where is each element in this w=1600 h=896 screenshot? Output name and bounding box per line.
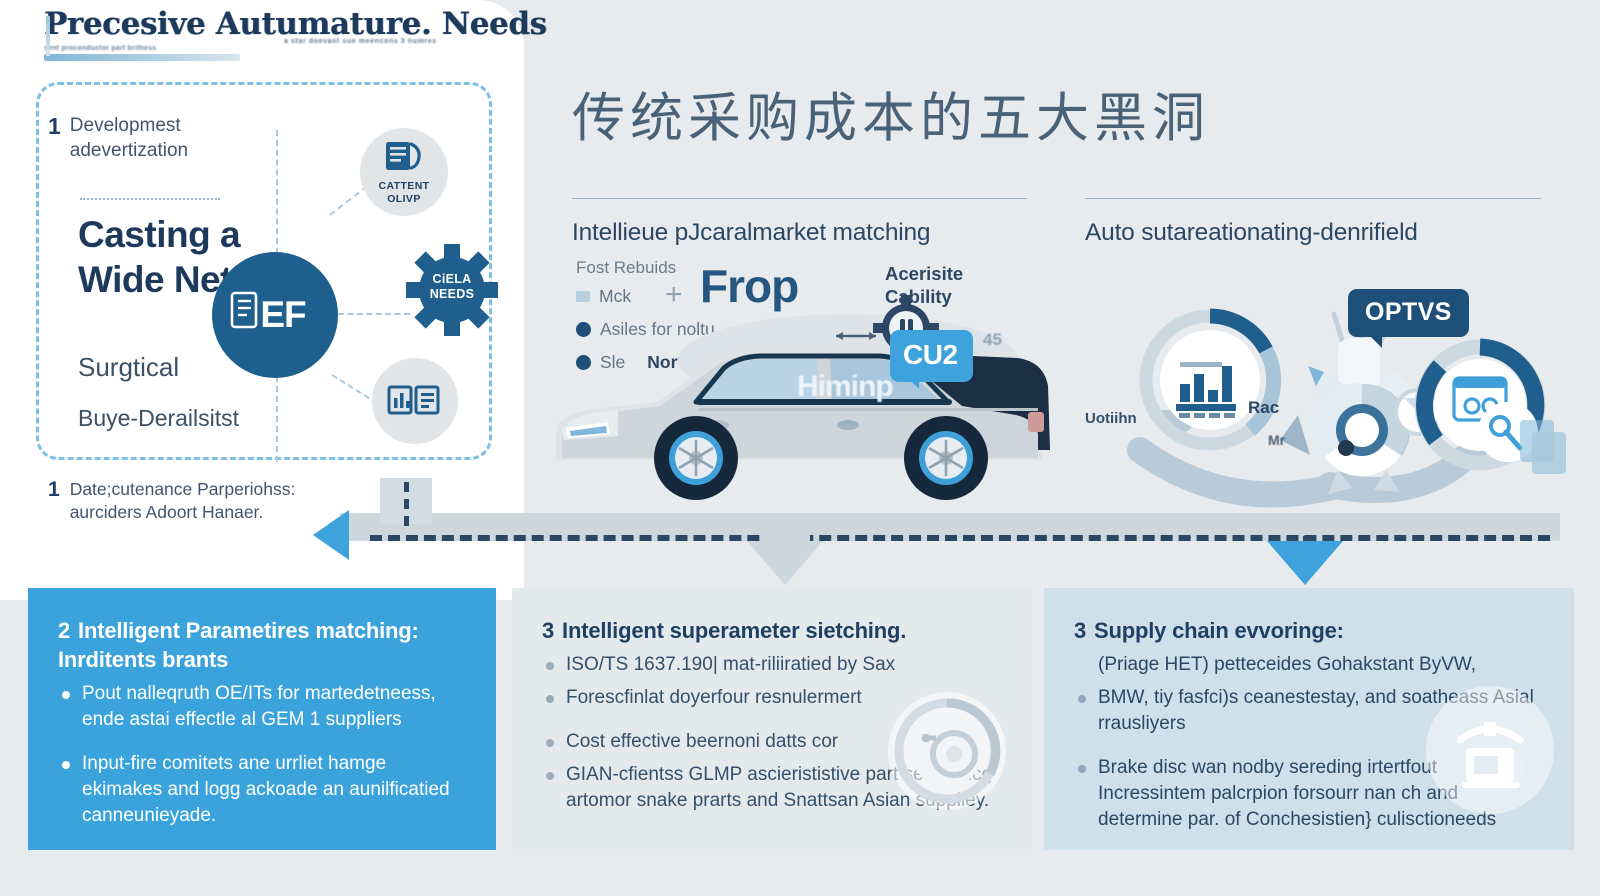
title-underline-bar bbox=[44, 54, 240, 61]
hub-label: EF bbox=[260, 294, 305, 336]
card-intelligent-parameters: 2Intelligent Parametires matching: Inrdi… bbox=[28, 588, 496, 850]
header-block: Precesive Autumature. Needs sent procond… bbox=[44, 6, 504, 52]
small-measure-number: 45 bbox=[983, 330, 1002, 350]
arrow-left bbox=[313, 510, 349, 560]
page-subtitle-secondary: a star doevant sue meencons 3 numres bbox=[284, 38, 437, 45]
section-divider-middle bbox=[572, 198, 1027, 199]
card-bullet-item: ISO/TS 1637.190| mat-riliiratied by Sax bbox=[542, 652, 1002, 678]
arrow-down-right bbox=[1267, 541, 1343, 585]
dotted-divider bbox=[80, 198, 220, 200]
card-art-factory bbox=[1426, 686, 1554, 814]
chinese-title: 传统采购成本的五大黑洞 bbox=[572, 76, 1210, 152]
orbit-icon-gear-label: CiELA NEEDS bbox=[406, 272, 498, 302]
card-intelligent-superameter: 3Intelligent superameter sietching. ISO/… bbox=[512, 588, 1032, 850]
card-art-gauge bbox=[888, 692, 1006, 810]
arrow-down-middle bbox=[747, 541, 823, 585]
orbit-icon-content-label: CATTENT OLIVP bbox=[378, 180, 429, 206]
chart-document-icon bbox=[387, 384, 443, 418]
clipboard-icon bbox=[381, 138, 427, 180]
card-bullet-item: Input-fire comitets ane urrliet hamge ek… bbox=[58, 751, 466, 829]
left-step-text: Developmest adevertization bbox=[70, 113, 255, 163]
section-divider-right bbox=[1085, 198, 1541, 199]
left-step-number: 1 bbox=[48, 113, 61, 139]
card-title: 3Intelligent superameter sietching. bbox=[542, 616, 1002, 645]
optvs-badge-tail bbox=[1368, 334, 1382, 348]
left-subheading-b: Buye-Derailsitst bbox=[78, 405, 239, 432]
utilization-label: Uotiihn bbox=[1085, 410, 1137, 427]
connector-line-to-needs bbox=[338, 313, 410, 315]
section-middle-title: Intellieue pJcaralmarket matching bbox=[572, 219, 1027, 247]
optvs-badge: OPTVS bbox=[1348, 289, 1469, 337]
connector-line-vertical-bottom bbox=[276, 376, 278, 462]
section-middle: Intellieue pJcaralmarket matching bbox=[572, 198, 1027, 247]
left-subheading-a: Surgtical bbox=[78, 352, 179, 383]
mr-label: Mr bbox=[1268, 432, 1285, 448]
card-bullet-item: (Priage HET) petteceides Gohakstant ByVW… bbox=[1074, 652, 1544, 678]
card-title-text: Supply chain evvoringe: bbox=[1094, 618, 1344, 643]
card-title-text: Intelligent Parametires matching: Inrdit… bbox=[58, 618, 419, 672]
orbit-icon-content-output: CATTENT OLIVP bbox=[360, 128, 448, 216]
orbit-icon-gear-needs: CiELA NEEDS bbox=[406, 244, 498, 336]
card-bullet-list: Pout nalleqruth OE/ITs for martedetneess… bbox=[58, 681, 466, 829]
trim-watermark: Himinp bbox=[797, 370, 893, 404]
title-tick-mark bbox=[46, 16, 50, 56]
connector-band-dashes bbox=[370, 535, 1550, 541]
card-number: 2 bbox=[58, 618, 70, 643]
card-title: 2Intelligent Parametires matching: Inrdi… bbox=[58, 616, 466, 674]
rac-label: Rac bbox=[1248, 398, 1279, 418]
infographic-canvas: Precesive Autumature. Needs sent procond… bbox=[0, 0, 1600, 896]
page-title: Precesive Autumature. Needs bbox=[44, 6, 504, 42]
section-right: Auto sutareationating-denrifield bbox=[1085, 198, 1541, 247]
card-number: 3 bbox=[542, 618, 554, 643]
card-number: 3 bbox=[1074, 618, 1086, 643]
page-subtitle: sent proconductor part brithess bbox=[44, 45, 504, 52]
card-title: 3Supply chain evvoringe: bbox=[1074, 616, 1544, 645]
left-note-text: Date;cutenance Parperiohss: aurciders Ad… bbox=[70, 478, 350, 524]
card-bullet-item: Pout nalleqruth OE/ITs for martedetneess… bbox=[58, 681, 466, 733]
left-note-number: 1 bbox=[48, 478, 60, 501]
connector-line-vertical-top bbox=[276, 130, 278, 254]
connector-dash-vertical-left bbox=[404, 482, 409, 526]
cu2-badge: CU2 bbox=[890, 330, 973, 382]
card-supply-chain: 3Supply chain evvoringe: (Priage HET) pe… bbox=[1044, 588, 1574, 850]
orbit-icon-data-chart bbox=[372, 358, 458, 444]
right-artwork bbox=[1080, 280, 1580, 510]
width-measure-icon bbox=[832, 329, 880, 343]
cu2-badge-tail bbox=[906, 376, 919, 389]
hub-node: EF bbox=[212, 252, 338, 378]
section-right-title: Auto sutareationating-denrifield bbox=[1085, 219, 1541, 247]
card-title-text: Intelligent superameter sietching. bbox=[562, 618, 906, 643]
left-step-label: 1Developmest adevertization bbox=[48, 113, 298, 163]
